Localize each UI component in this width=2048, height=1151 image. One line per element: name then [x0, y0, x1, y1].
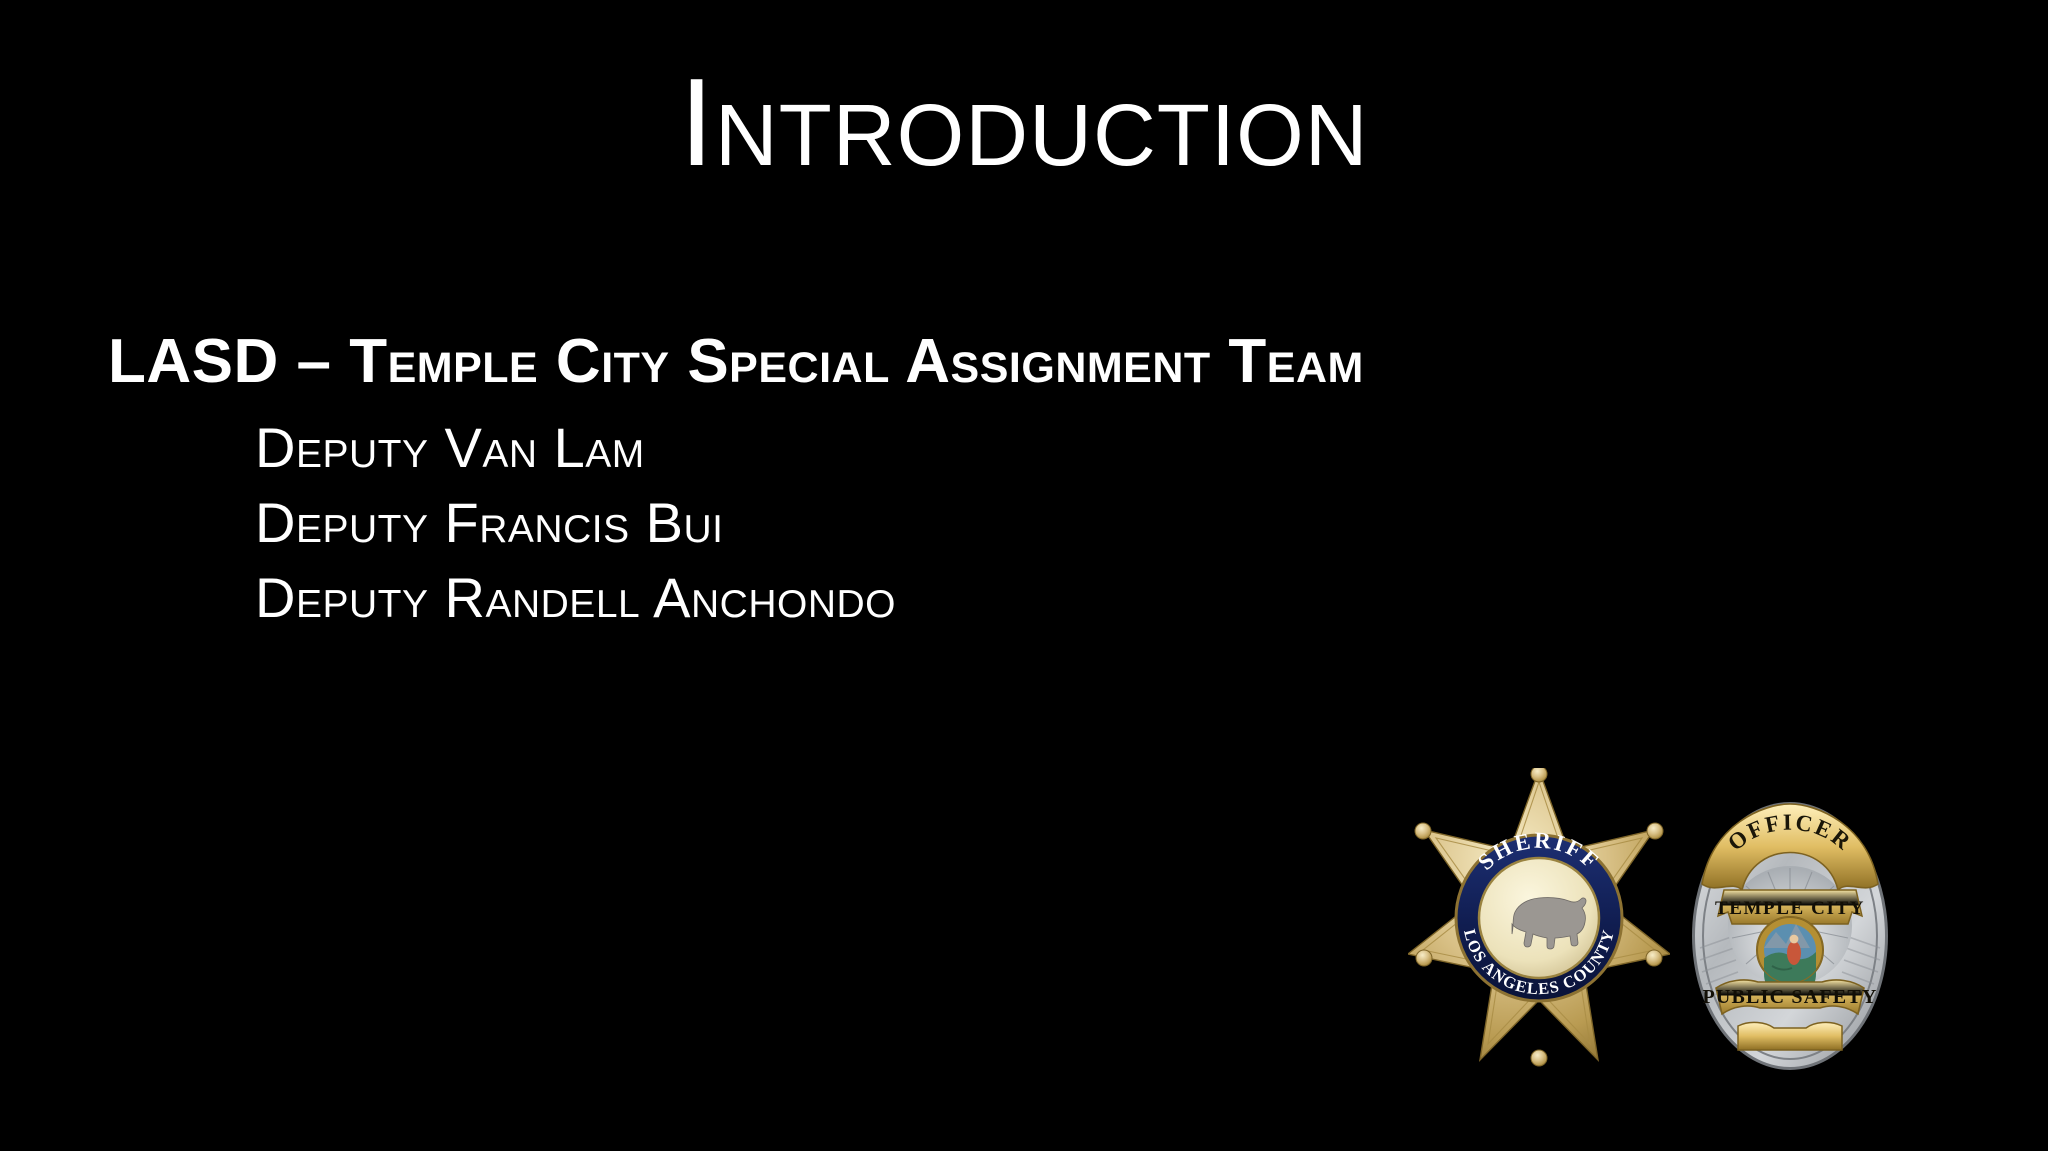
body-heading: LASD – Temple City Special Assignment Te…: [108, 326, 1608, 398]
lasd-sheriff-star-badge: SHERIFF LOS ANGELES COUNTY: [1408, 768, 1670, 1068]
slide-title: Introduction: [0, 58, 2048, 188]
list-item: Deputy Randell Anchondo: [255, 560, 1608, 635]
temple-city-public-safety-badge: OFFICER TEMPLE CITY PUBLIC SAFETY: [1688, 798, 1892, 1074]
presentation-slide: Introduction LASD – Temple City Special …: [0, 0, 2048, 1151]
member-list: Deputy Van Lam Deputy Francis Bui Deputy…: [108, 410, 1608, 635]
list-item: Deputy Van Lam: [255, 410, 1608, 485]
slide-body: LASD – Temple City Special Assignment Te…: [108, 326, 1608, 635]
list-item: Deputy Francis Bui: [255, 485, 1608, 560]
public-safety-scroll-text: PUBLIC SAFETY: [1702, 986, 1877, 1008]
temple-city-banner-text: TEMPLE CITY: [1715, 898, 1865, 919]
